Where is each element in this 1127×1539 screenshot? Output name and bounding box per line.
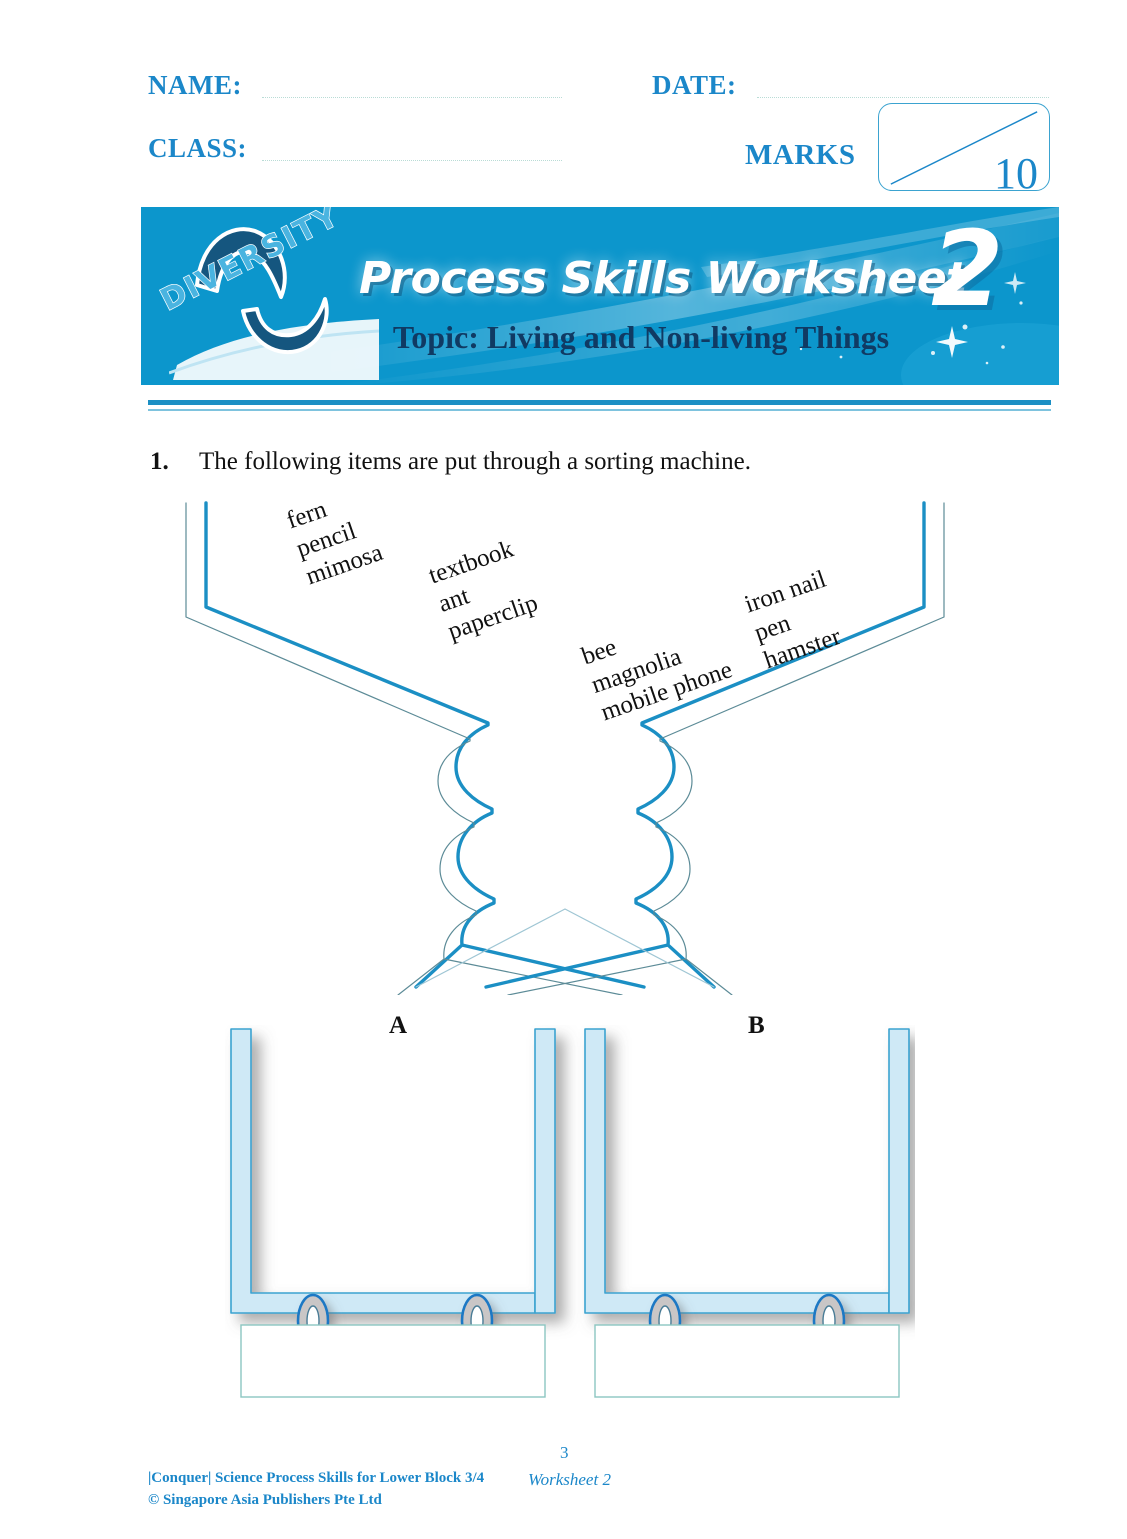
answer-box-b[interactable] [595, 1325, 899, 1397]
sorting-machine-diagram [170, 495, 960, 995]
marks-label: MARKS [745, 139, 855, 172]
divider-thick [148, 400, 1051, 405]
footer-publication: |Conquer| Science Process Skills for Low… [148, 1470, 484, 1487]
worksheet-banner: DIVERSITY Process Skills Worksheet 2 Top… [141, 207, 1059, 385]
question-number: 1. [150, 448, 169, 476]
banner-title: Process Skills Worksheet [359, 253, 967, 304]
name-label: NAME: [148, 70, 242, 101]
class-label: CLASS: [148, 133, 247, 164]
marks-box[interactable]: 10 [878, 103, 1050, 191]
date-input-rule[interactable] [757, 97, 1049, 98]
footer-worksheet-label: Worksheet 2 [528, 1470, 611, 1490]
bin-b-container [585, 1029, 909, 1313]
question-text: The following items are put through a so… [199, 448, 751, 476]
divider-thin [148, 409, 1051, 411]
class-input-rule[interactable] [262, 160, 562, 161]
worksheet-page: NAME: CLASS: DATE: MARKS 10 [0, 0, 1127, 1539]
date-label: DATE: [652, 70, 737, 101]
collection-bins-and-answer-boxes [225, 1025, 915, 1405]
name-input-rule[interactable] [262, 97, 562, 98]
answer-box-a[interactable] [241, 1325, 545, 1397]
marks-total: 10 [994, 152, 1038, 191]
bin-a-container [231, 1029, 555, 1313]
banner-topic: Topic: Living and Non-living Things [361, 319, 921, 356]
banner-worksheet-number: 2 [931, 217, 1003, 321]
footer-copyright: © Singapore Asia Publishers Pte Ltd [148, 1492, 382, 1509]
page-number: 3 [560, 1443, 569, 1463]
